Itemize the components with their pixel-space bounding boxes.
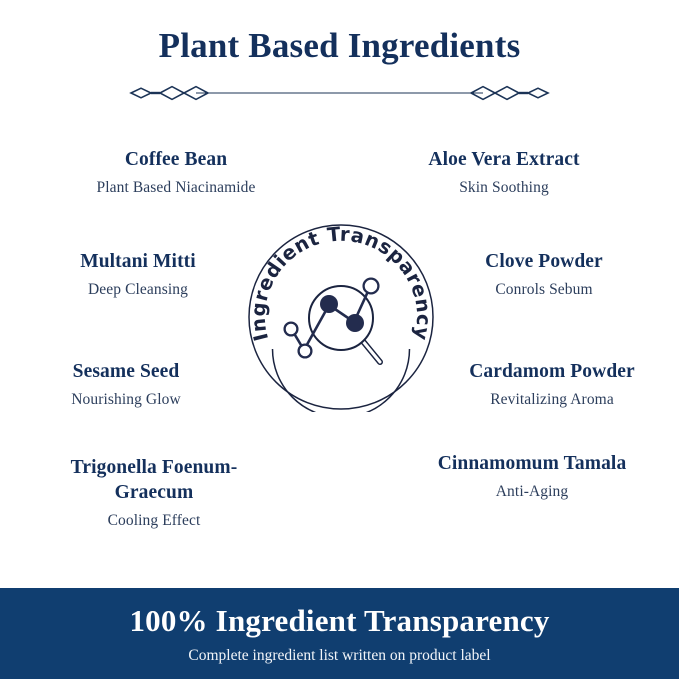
- ingredient-benefit: Revitalizing Aroma: [428, 390, 676, 411]
- ingredient-name: Clove Powder: [428, 250, 660, 275]
- ingredient-block-multani-mitti: Multani Mitti Deep Cleansing: [22, 250, 254, 301]
- ingredients-infographic: Plant Based Ingredients Coffee Bean Plan: [0, 0, 679, 679]
- header: Plant Based Ingredients: [0, 26, 679, 66]
- ingredient-block-cardamom-powder: Cardamom Powder Revitalizing Aroma: [428, 360, 676, 411]
- ingredient-name: Trigonella Foenum-Graecum: [34, 456, 274, 506]
- ingredient-benefit: Plant Based Niacinamide: [60, 178, 292, 199]
- ingredient-block-aloe-vera-extract: Aloe Vera Extract Skin Soothing: [388, 148, 620, 199]
- ingredient-block-sesame-seed: Sesame Seed Nourishing Glow: [10, 360, 242, 411]
- ingredient-benefit: Skin Soothing: [388, 178, 620, 199]
- ingredient-block-trigonella-foenum-graecum: Trigonella Foenum-Graecum Cooling Effect: [34, 456, 274, 532]
- footer-subtext: Complete ingredient list written on prod…: [0, 647, 679, 666]
- ingredient-name: Sesame Seed: [10, 360, 242, 385]
- ingredient-block-coffee-bean: Coffee Bean Plant Based Niacinamide: [60, 148, 292, 199]
- ingredient-benefit: Nourishing Glow: [10, 390, 242, 411]
- badge-inner-arc: [273, 349, 410, 412]
- page-title: Plant Based Ingredients: [0, 26, 679, 66]
- ingredient-block-clove-powder: Clove Powder Conrols Sebum: [428, 250, 660, 301]
- divider: [0, 80, 679, 106]
- ingredient-benefit: Conrols Sebum: [428, 280, 660, 301]
- ingredient-name: Cinnamomum Tamala: [400, 452, 664, 477]
- ingredient-transparency-badge: Ingredient Transparency: [246, 222, 436, 412]
- ingredient-benefit: Anti-Aging: [400, 482, 664, 503]
- magnifier-lens: [309, 286, 373, 350]
- ingredient-benefit: Deep Cleansing: [22, 280, 254, 301]
- ingredient-name: Coffee Bean: [60, 148, 292, 173]
- footer-banner: 100% Ingredient Transparency Complete in…: [0, 588, 679, 679]
- ingredient-benefit: Cooling Effect: [34, 511, 274, 532]
- ingredient-name: Aloe Vera Extract: [388, 148, 620, 173]
- ingredient-name: Multani Mitti: [22, 250, 254, 275]
- ingredient-block-cinnamomum-tamala: Cinnamomum Tamala Anti-Aging: [400, 452, 664, 503]
- footer-headline: 100% Ingredient Transparency: [0, 604, 679, 638]
- ingredient-name: Cardamom Powder: [428, 360, 676, 385]
- diamond-ornament-divider: [0, 80, 679, 106]
